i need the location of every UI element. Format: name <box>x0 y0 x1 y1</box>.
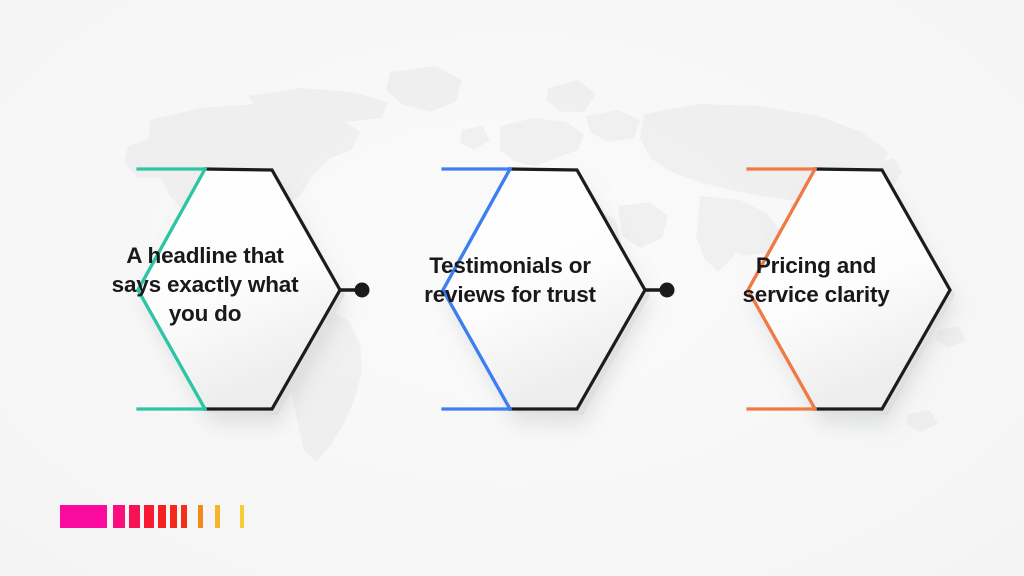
gradient-bar-accent <box>60 505 244 528</box>
hexagon-step-2-label: Testimonials or reviews for trust <box>400 252 620 310</box>
accent-bar-4 <box>144 505 154 528</box>
accent-bar-8 <box>198 505 203 528</box>
accent-bar-6 <box>170 505 177 528</box>
accent-bar-7 <box>181 505 187 528</box>
hexagon-step-1-label: A headline that says exactly what you do <box>92 242 318 328</box>
accent-bar-2 <box>113 505 125 528</box>
accent-bar-1 <box>60 505 107 528</box>
hexagon-step-3-label: Pricing and service clarity <box>706 252 926 310</box>
accent-bar-5 <box>158 505 166 528</box>
connector-2-dot <box>660 283 675 298</box>
slide-canvas: A headline that says exactly what you do… <box>0 0 1024 576</box>
accent-bar-9 <box>215 505 220 528</box>
accent-bar-10 <box>240 505 244 528</box>
accent-bar-3 <box>129 505 140 528</box>
connector-1-dot <box>355 283 370 298</box>
